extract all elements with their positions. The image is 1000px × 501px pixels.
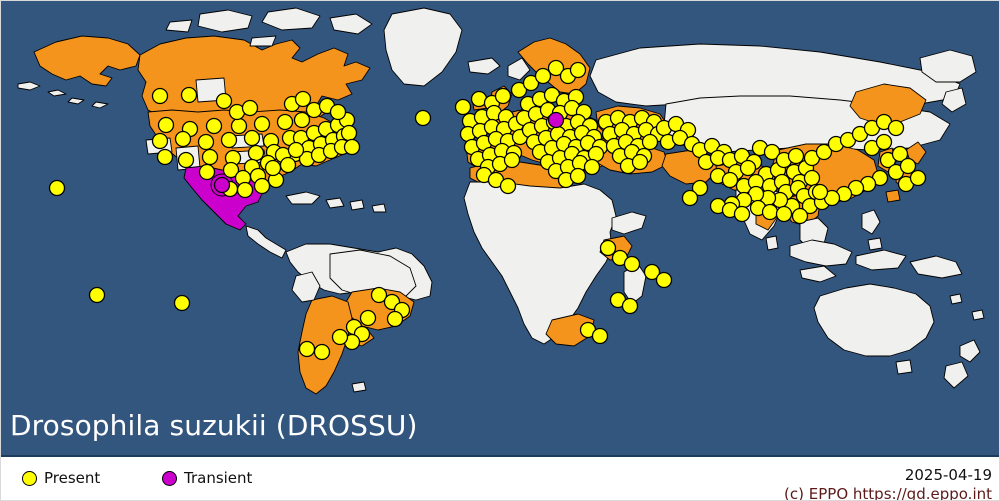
credit-block: 2025-04-19 (c) EPPO https://gd.eppo.int (784, 466, 992, 501)
distribution-map-figure: Drosophila suzukii (DROSSU) Present Tran… (0, 0, 1000, 501)
transient-circle-icon (162, 471, 177, 486)
world-map-panel[interactable] (0, 0, 1000, 455)
legend-item-transient[interactable]: Transient (162, 469, 252, 487)
tasmania (896, 360, 912, 374)
page-title: Drosophila suzukii (DROSSU) (10, 409, 418, 442)
legend-label-transient: Transient (184, 469, 252, 487)
legend-band: Present Transient 2025-04-19 (c) EPPO ht… (0, 455, 1000, 501)
map-date: 2025-04-19 (784, 466, 992, 485)
state-absent-1 (196, 78, 226, 102)
legend-label-present: Present (44, 469, 100, 487)
world-map-svg[interactable] (0, 0, 1000, 400)
mexico-transient-marker[interactable] (211, 174, 233, 196)
country-kenya[interactable] (600, 236, 632, 260)
state-absent-2 (230, 134, 264, 148)
legend-item-present[interactable]: Present (22, 469, 100, 487)
country-ireland[interactable] (472, 96, 488, 110)
copyright-source: (c) EPPO https://gd.eppo.int (784, 485, 992, 501)
falkland-islands (352, 382, 366, 392)
state-absent-5 (146, 138, 172, 154)
present-circle-icon (22, 471, 37, 486)
sri-lanka (766, 236, 778, 250)
state-absent-3 (232, 150, 266, 164)
